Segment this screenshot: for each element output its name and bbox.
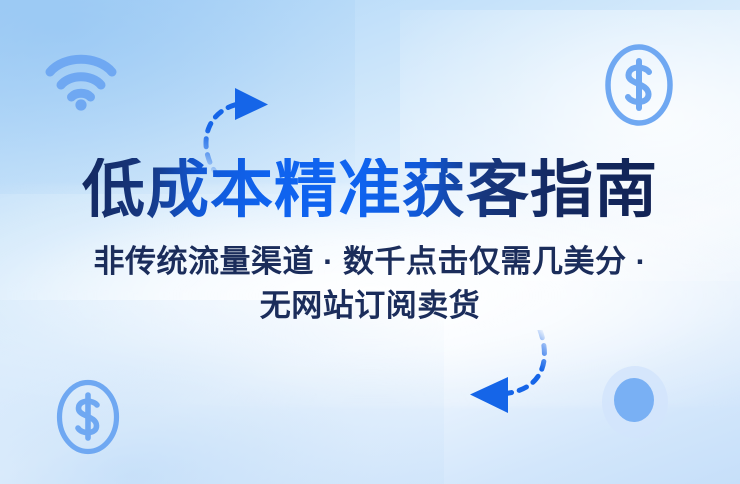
promo-banner: 低成本精准获客指南 非传统流量渠道 · 数千点击仅需几美分 · 无网站订阅卖货 [0,0,740,484]
halo-dot-icon [598,363,672,441]
page-subtitle-line-2: 无网站订阅卖货 [0,284,740,328]
wifi-icon [44,47,118,113]
dollar-circle-icon [603,42,675,128]
page-subtitle: 非传统流量渠道 · 数千点击仅需几美分 · 无网站订阅卖货 [0,222,740,328]
page-title: 低成本精准获客指南 [0,158,740,222]
dollar-circle-icon [55,378,121,456]
dashed-curved-arrow-left-icon [444,330,554,430]
page-subtitle-line-1: 非传统流量渠道 · 数千点击仅需几美分 · [0,240,740,284]
text-block: 低成本精准获客指南 非传统流量渠道 · 数千点击仅需几美分 · 无网站订阅卖货 [0,158,740,328]
